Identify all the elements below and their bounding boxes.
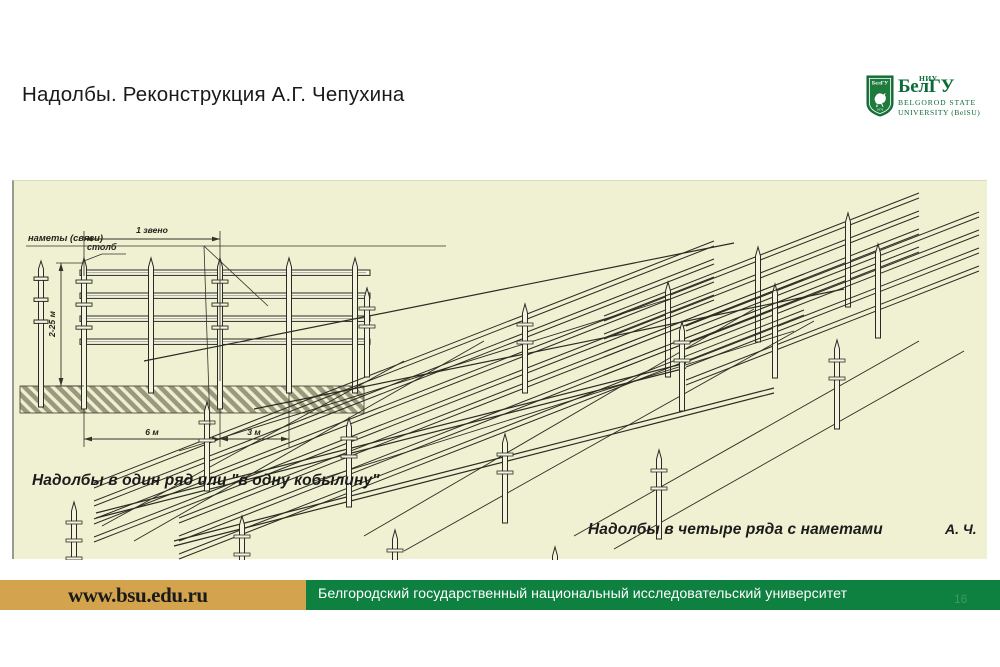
logo-line2: UNIVERSITY (BelSU) (898, 108, 980, 117)
caption-right-figure: Надолбы в четыре ряда с наметами (588, 521, 883, 539)
footer-university-name: Белгородский государственный национальны… (318, 586, 847, 602)
page-number: 16 (954, 592, 967, 606)
belsu-logo: БелГУ 1876 НИУ БелГУ BELGOROD STATE UNIV… (866, 74, 988, 120)
caption-left-figure: Надолбы в один ряд или "в одну кобылину" (32, 472, 380, 490)
diagram-canvas: 1 звено столб 2-25 м (14, 181, 989, 560)
label-span: 1 звено (136, 225, 168, 235)
page-title: Надолбы. Реконструкция А.Г. Чепухина (22, 83, 404, 107)
label-dim-short: 3 м (247, 427, 261, 437)
logo-line1: BELGOROD STATE (898, 98, 976, 107)
content-panel: 1 звено столб 2-25 м (12, 180, 987, 559)
label-post: столб (87, 242, 117, 252)
author-signature: А. Ч. (945, 521, 977, 537)
label-braces: наметы (связи) (28, 232, 103, 243)
label-post-group: столб (84, 242, 126, 261)
logo-abbr: БелГУ (898, 77, 954, 96)
svg-text:БелГУ: БелГУ (872, 81, 888, 87)
svg-text:1876: 1876 (877, 108, 884, 112)
figure-right-isometric: наметы (связи) (26, 193, 979, 560)
presentation-slide: Надолбы. Реконструкция А.Г. Чепухина Бел… (0, 0, 1000, 667)
footer-website-url[interactable]: www.bsu.edu.ru (68, 583, 208, 608)
slide-footer: www.bsu.edu.ru Белгородский государствен… (0, 580, 1000, 610)
label-dim-long: 6 м (145, 427, 159, 437)
label-height: 2-25 м (47, 310, 57, 338)
shield-icon: БелГУ 1876 (866, 75, 894, 117)
